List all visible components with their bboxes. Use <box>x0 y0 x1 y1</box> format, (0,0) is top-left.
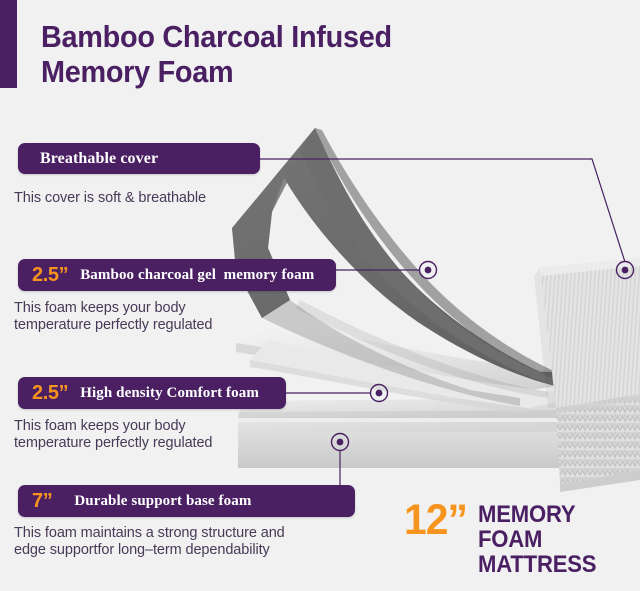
layer-description-high-density-comfort-foam: This foam keeps your body temperature pe… <box>14 418 314 452</box>
total-height-measure: 12” <box>404 500 467 540</box>
leader-line-cover <box>260 159 625 262</box>
layer-badge-label: High density Comfort foam <box>80 385 259 401</box>
layer-badge-measure: 7” <box>32 491 52 511</box>
leader-lines <box>260 159 625 485</box>
layer-badge-label: Durable support base foam <box>74 493 251 509</box>
layer-description-durable-support-base-foam: This foam maintains a strong structure a… <box>14 525 374 559</box>
layer-badge-label: Breathable cover <box>40 151 158 167</box>
total-height-label: MEMORY FOAM MATTRESS <box>478 500 627 577</box>
comfort-foam-layer <box>238 383 566 418</box>
layer-badge-label: Bamboo charcoal gel memory foam <box>80 267 314 283</box>
callout-dots <box>332 262 634 451</box>
callout-dot-cover <box>617 262 634 279</box>
layer-badge-high-density-comfort-foam[interactable]: 2.5” High density Comfort foam <box>18 377 286 409</box>
title-line-2: Memory Foam <box>41 54 487 89</box>
callout-dot-base-foam <box>332 434 349 451</box>
layer-badge-breathable-cover[interactable]: Breathable cover <box>18 143 260 174</box>
layer-description-breathable-cover: This cover is soft & breathable <box>14 190 314 207</box>
title-line-1: Bamboo Charcoal Infused <box>41 19 487 54</box>
callout-dot-memory-foam <box>420 262 437 279</box>
left-accent-bar <box>0 0 17 88</box>
layer-description-bamboo-charcoal-gel-memory-foam: This foam keeps your body temperature pe… <box>14 300 314 334</box>
layer-badge-measure: 2.5” <box>32 383 68 403</box>
layer-badge-measure: 2.5” <box>32 265 68 285</box>
total-height-callout: 12” MEMORY FOAM MATTRESS <box>404 500 640 577</box>
layer-badge-durable-support-base-foam[interactable]: 7” Durable support base foam <box>18 485 355 517</box>
infographic-root: Bamboo Charcoal Infused Memory Foam Brea… <box>0 0 640 591</box>
page-title: Bamboo Charcoal Infused Memory Foam <box>41 19 521 89</box>
callout-dot-comfort-foam <box>371 385 388 402</box>
fabric-cover-panel <box>534 258 640 492</box>
layer-badge-bamboo-charcoal-gel-memory-foam[interactable]: 2.5” Bamboo charcoal gel memory foam <box>18 259 336 291</box>
